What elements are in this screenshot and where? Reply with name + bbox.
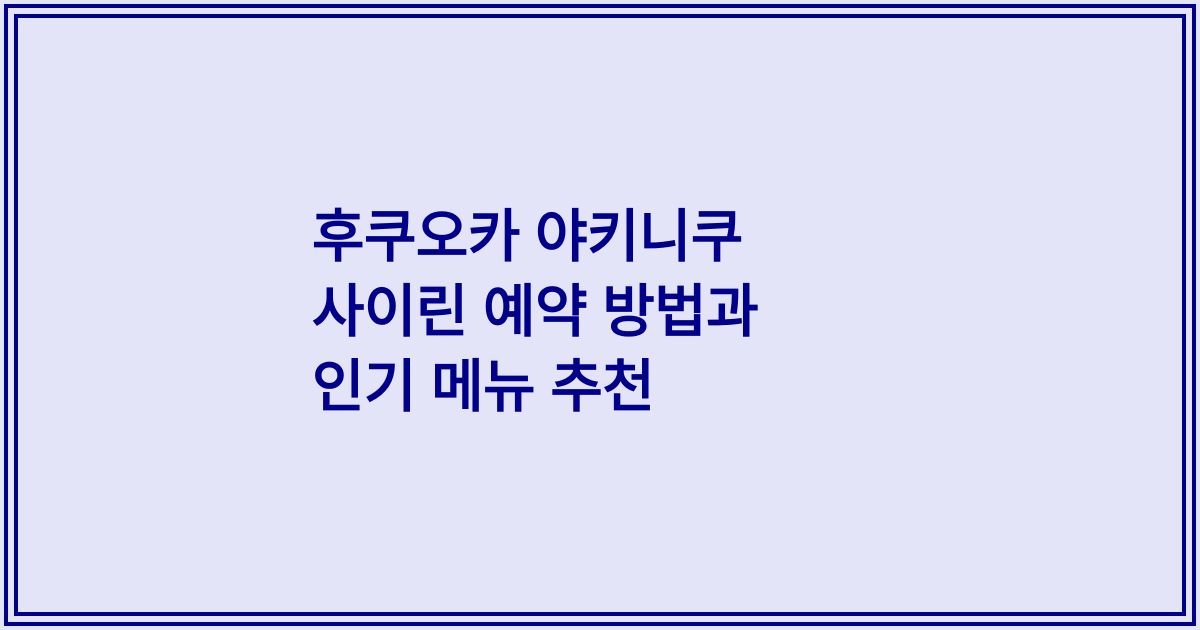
title-line-3: 인기 메뉴 추천	[312, 350, 1142, 425]
title-line-2: 사이린 예약 방법과	[312, 275, 1142, 350]
title-line-1: 후쿠오카 야키니쿠	[312, 200, 1142, 275]
page-title: 후쿠오카 야키니쿠 사이린 예약 방법과 인기 메뉴 추천	[18, 200, 1182, 431]
outer-border-frame: 후쿠오카 야키니쿠 사이린 예약 방법과 인기 메뉴 추천	[4, 4, 1196, 626]
inner-border-frame: 후쿠오카 야키니쿠 사이린 예약 방법과 인기 메뉴 추천	[14, 14, 1186, 616]
thumbnail-card: 후쿠오카 야키니쿠 사이린 예약 방법과 인기 메뉴 추천	[0, 0, 1200, 630]
